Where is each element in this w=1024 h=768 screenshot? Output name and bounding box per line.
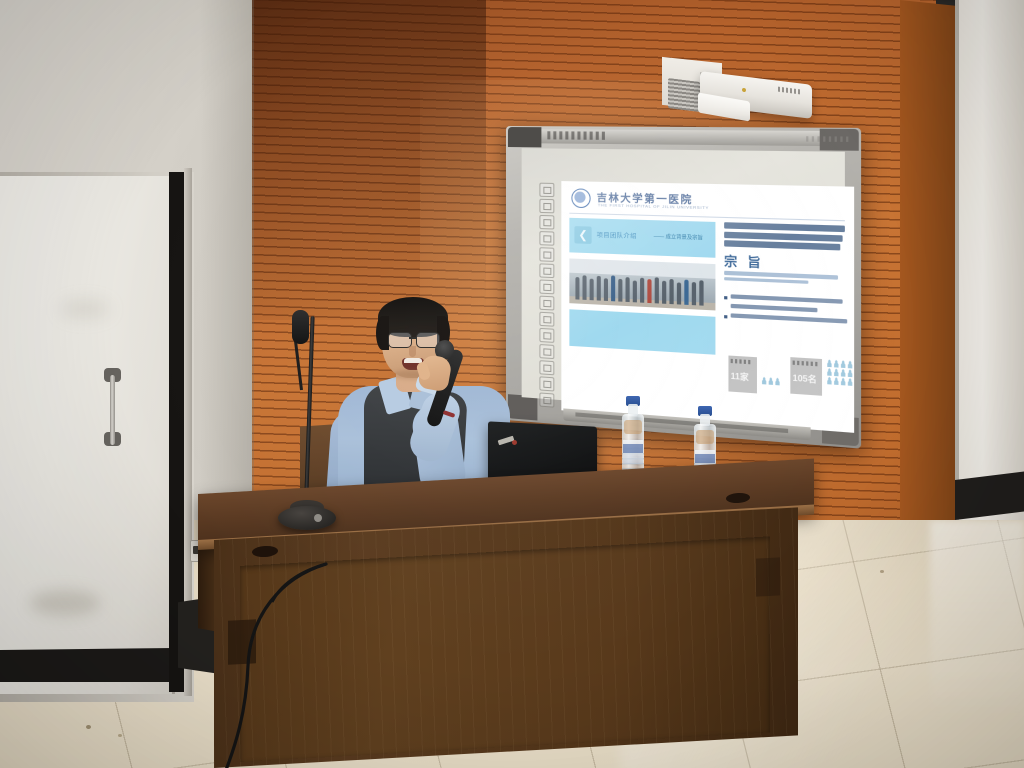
column-base-trim <box>955 472 1024 520</box>
whiteboard-toolbar[interactable] <box>539 179 555 416</box>
column-floor-reflection <box>930 520 1024 720</box>
person-icon <box>768 377 774 385</box>
stat-people-icons <box>761 377 780 386</box>
projector-status-led <box>742 88 746 92</box>
home-icon[interactable] <box>539 392 554 407</box>
stat-value: 11家 <box>731 370 749 383</box>
person-icon <box>775 378 781 386</box>
stat-people-icons <box>827 359 853 386</box>
undo-icon[interactable] <box>539 296 554 311</box>
projector-vent-grille <box>668 78 700 112</box>
door-smudge <box>60 300 110 318</box>
presenter-hair-side <box>376 316 389 350</box>
gooseneck-microphone-windscreen <box>292 310 309 344</box>
eraser-icon[interactable] <box>539 199 554 214</box>
redo-icon[interactable] <box>539 312 554 327</box>
bottle-liquid-line <box>624 420 642 434</box>
glasses-bridge <box>409 337 417 339</box>
camera-icon[interactable] <box>539 360 554 375</box>
highlighter-icon[interactable] <box>539 279 554 294</box>
text-icon[interactable] <box>539 263 554 278</box>
bottle-label-band <box>623 444 643 453</box>
laptop-logo-dot <box>512 440 517 445</box>
slide-big-word: 宗 旨 <box>724 252 764 272</box>
university-crest-inner <box>574 191 585 202</box>
slide-accent-band <box>569 309 715 354</box>
floor-speck <box>86 725 91 729</box>
person-icon <box>833 368 839 376</box>
slide-section-banner: ❮ 项目团队介绍 —— 成立背景及宗旨 <box>569 218 715 258</box>
person-icon <box>847 361 853 369</box>
desk-corner-bracket <box>756 557 780 596</box>
select-icon[interactable] <box>539 215 554 230</box>
person-icon <box>840 369 846 377</box>
whiteboard-brand-text <box>547 131 608 140</box>
bottle-liquid-line <box>696 430 714 444</box>
bottle-label-band <box>695 454 715 463</box>
door-handle[interactable] <box>110 375 115 445</box>
whiteboard-corner-cap <box>508 127 541 147</box>
floor-speck <box>118 734 122 737</box>
person-icon <box>833 360 839 368</box>
microphone-base <box>278 506 336 530</box>
presenter-nose <box>409 346 416 357</box>
floor-speck <box>880 570 884 573</box>
person-icon <box>827 377 833 385</box>
projected-slide: 吉林大学第一医院 THE FIRST HOSPITAL OF JILIN UNI… <box>561 181 854 433</box>
slide-bullet <box>724 313 849 325</box>
slide-keywords <box>724 271 845 288</box>
whiteboard-surface[interactable]: 吉林大学第一医院 THE FIRST HOSPITAL OF JILIN UNI… <box>522 148 845 421</box>
slide-banner-sub: —— 成立背景及宗旨 <box>654 233 703 242</box>
person-icon <box>840 360 846 368</box>
person-icon <box>840 377 846 385</box>
microphone-mute-button[interactable] <box>314 514 322 522</box>
pen-icon[interactable] <box>539 183 554 197</box>
person-icon <box>833 377 839 385</box>
slide-body-paragraph <box>724 222 847 253</box>
person-icon <box>827 359 833 367</box>
wood-wall-right-edge <box>900 0 960 546</box>
person-icon <box>827 368 833 376</box>
page-icon[interactable] <box>539 328 554 343</box>
shape-icon[interactable] <box>539 231 554 246</box>
stat-value: 105名 <box>793 372 817 385</box>
person-icon <box>847 369 853 377</box>
line-icon[interactable] <box>539 247 554 262</box>
scene-photo: 吉林大学第一医院 THE FIRST HOSPITAL OF JILIN UNI… <box>0 0 1024 768</box>
desk-front-panel <box>240 536 770 762</box>
slide-group-photo <box>569 258 715 310</box>
door-kickplate <box>0 648 174 682</box>
column-edge <box>955 0 959 540</box>
person-icon <box>761 377 767 385</box>
spotlight-icon[interactable] <box>539 344 554 359</box>
person-icon <box>847 378 853 386</box>
photo-background <box>569 258 715 278</box>
whiteboard-model-text <box>806 136 852 142</box>
interactive-whiteboard[interactable]: 吉林大学第一医院 THE FIRST HOSPITAL OF JILIN UNI… <box>506 126 861 449</box>
desk-corner-bracket <box>228 619 256 664</box>
slide-bullet-list <box>724 294 849 329</box>
keyboard-icon[interactable] <box>539 376 554 391</box>
door-smudge <box>30 590 100 616</box>
slide-banner-label: 项目团队介绍 <box>597 230 637 241</box>
classroom-door[interactable] <box>0 176 175 694</box>
quote-icon: ❮ <box>574 226 591 244</box>
